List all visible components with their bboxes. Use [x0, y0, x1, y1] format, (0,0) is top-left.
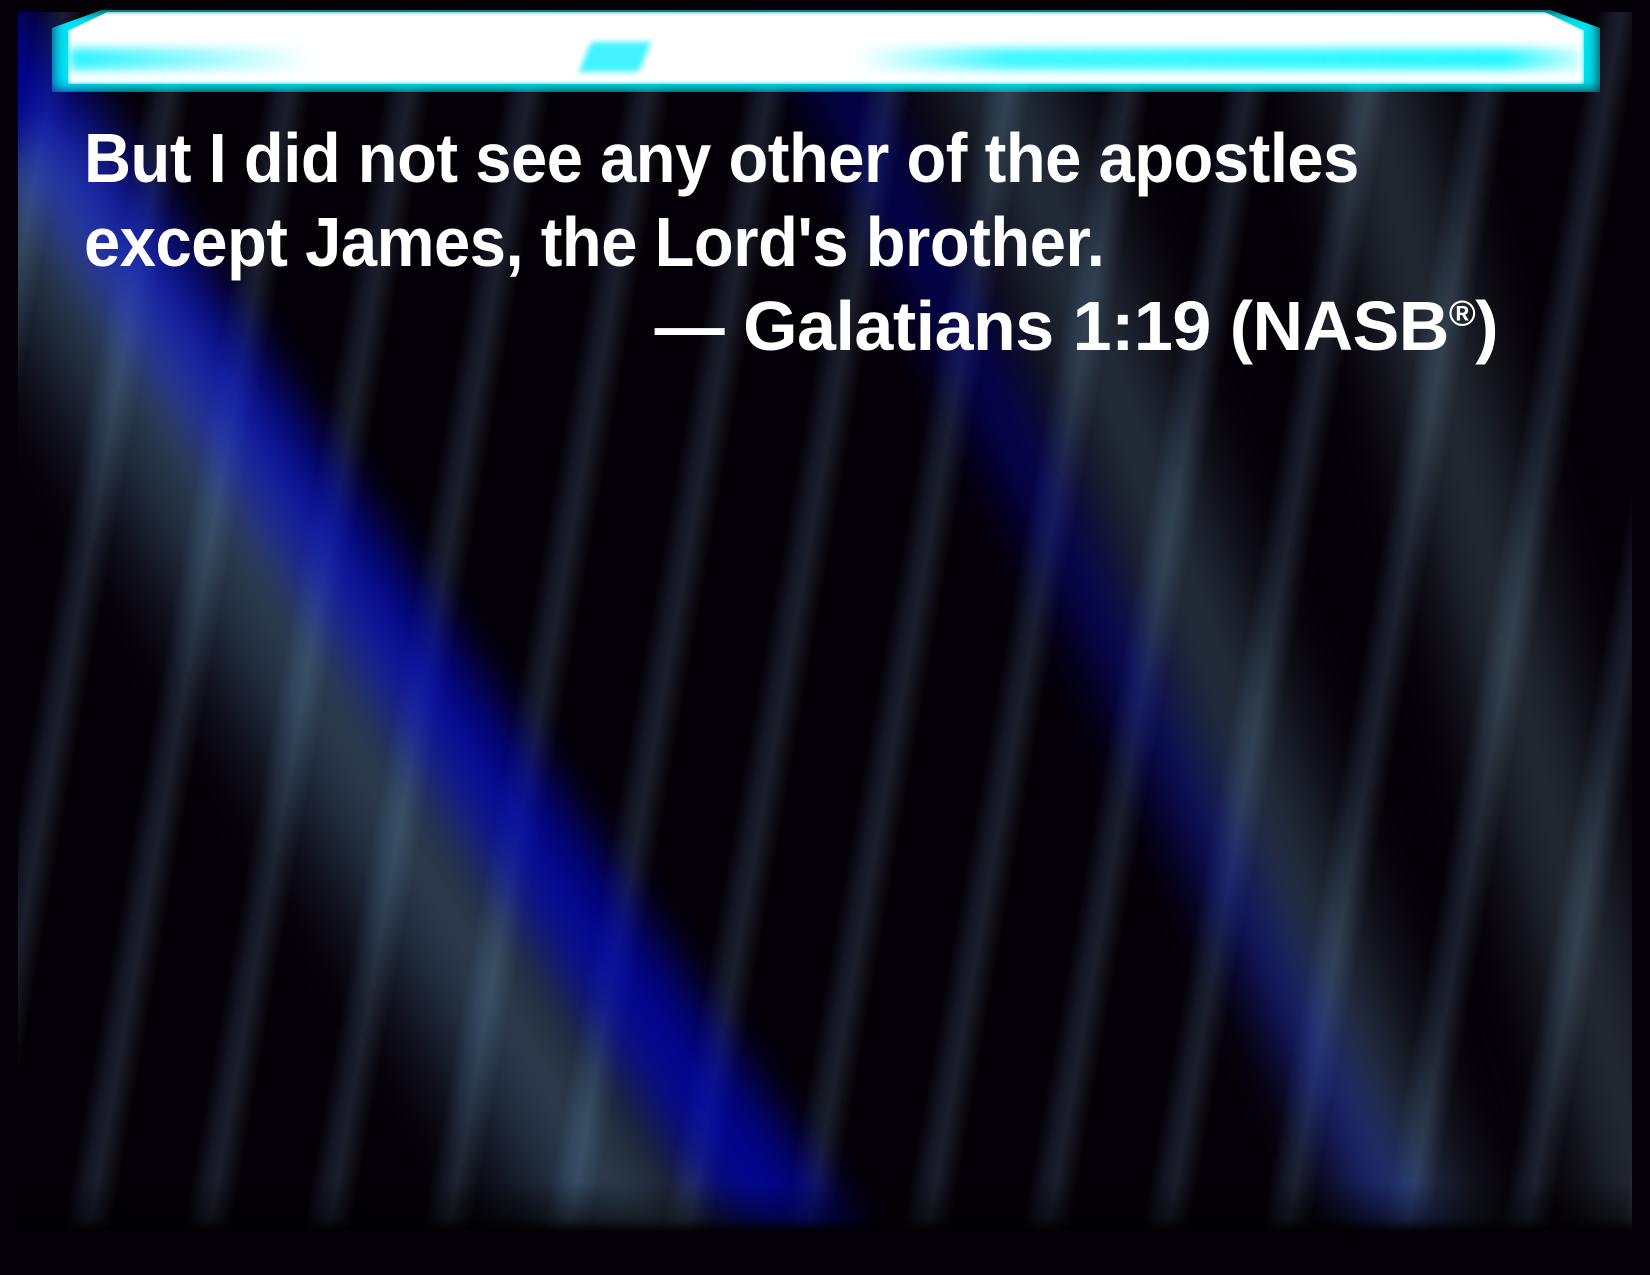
citation-translation-open: (NASB: [1230, 287, 1449, 365]
verse-slide: But I did not see any other of the apost…: [0, 0, 1650, 1275]
citation-translation-close: ): [1475, 287, 1498, 365]
verse-line-1: But I did not see any other of the apost…: [84, 116, 1405, 200]
verse-line-2: except James, the Lord's brother.: [84, 200, 1405, 284]
citation-dash: —: [655, 287, 725, 365]
citation-reference: Galatians 1:19: [743, 287, 1211, 365]
verse-text-block: But I did not see any other of the apost…: [84, 116, 1504, 368]
registered-trademark-icon: ®: [1449, 293, 1475, 334]
verse-citation: — Galatians 1:19 (NASB®): [84, 284, 1504, 368]
